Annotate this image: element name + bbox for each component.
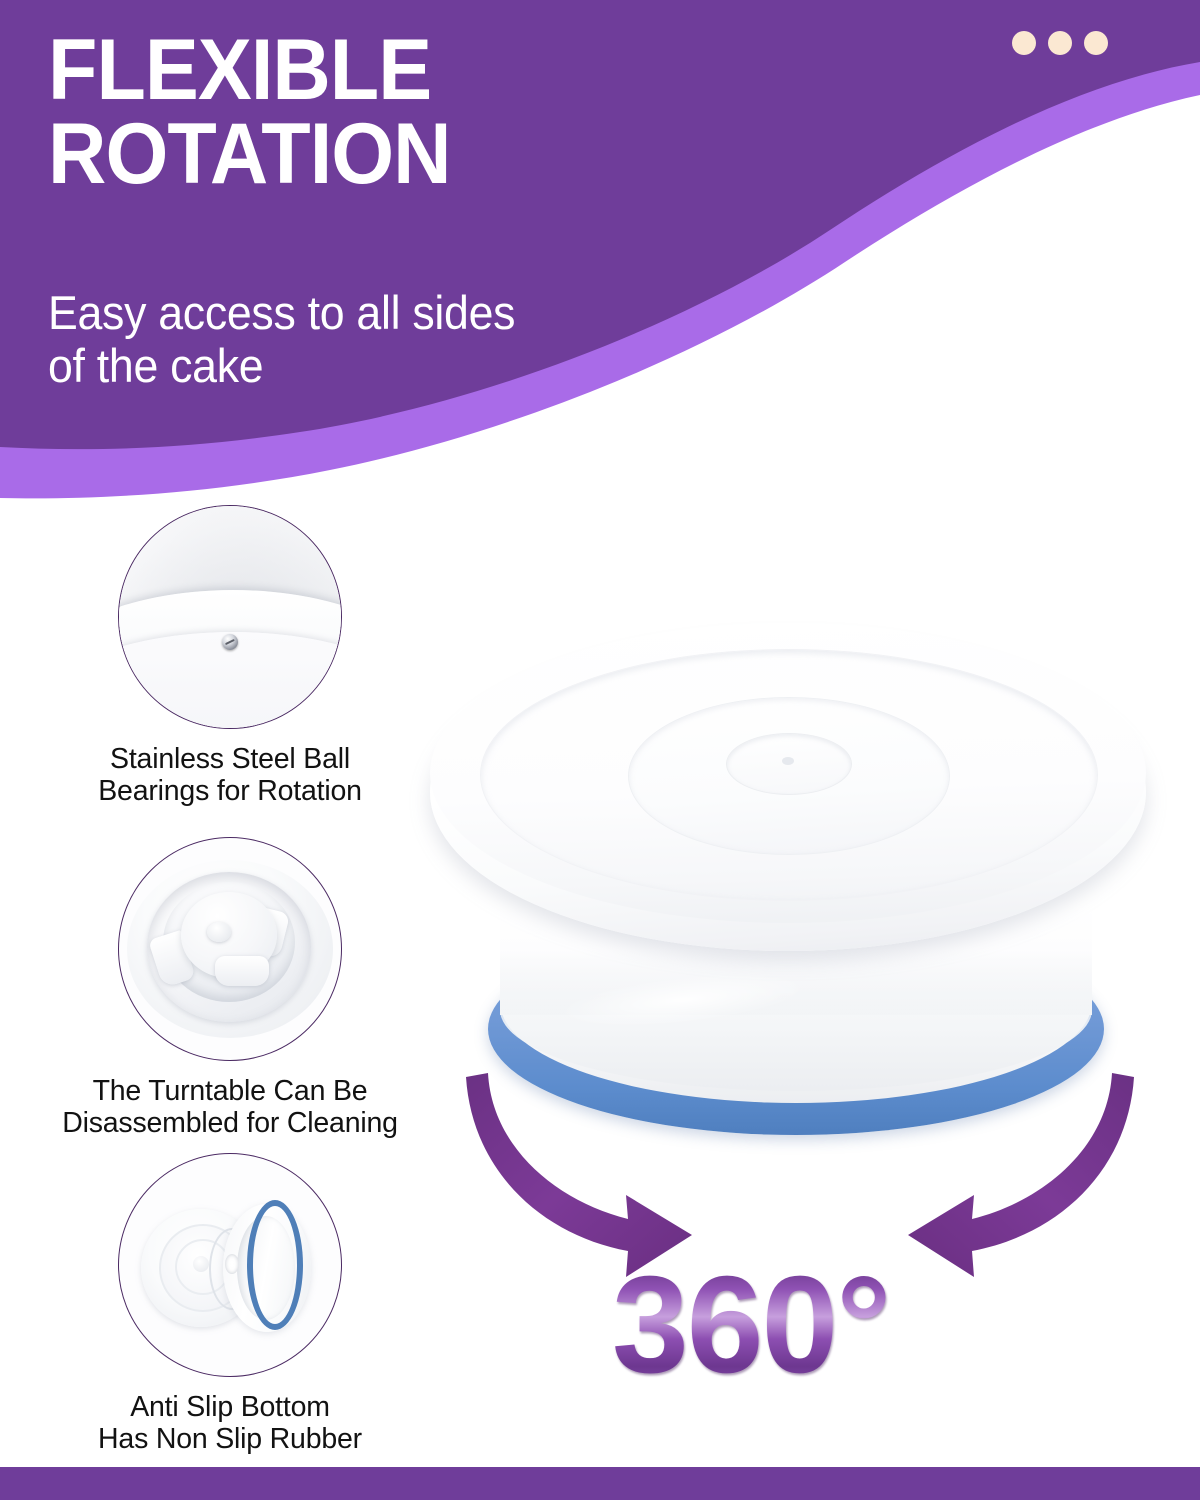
feature-label: Stainless Steel Ball Bearings for Rotati… [0, 743, 460, 808]
feature-item-ball-bearings: Stainless Steel Ball Bearings for Rotati… [0, 505, 460, 808]
page-title: FLEXIBLE ROTATION [48, 28, 706, 197]
dot-icon [1084, 31, 1108, 55]
dot-icon [1012, 31, 1036, 55]
rotation-degrees-label: 360° [612, 1256, 889, 1394]
feature-image-anti-slip [118, 1153, 342, 1377]
non-slip-rubber-ring-icon [247, 1200, 303, 1330]
feature-item-disassemble: The Turntable Can Be Disassembled for Cl… [0, 837, 460, 1140]
footer-bar [0, 1467, 1200, 1500]
decorative-dots-group [1012, 31, 1108, 55]
feature-label: Anti Slip Bottom Has Non Slip Rubber [0, 1391, 460, 1456]
feature-item-anti-slip: Anti Slip Bottom Has Non Slip Rubber [0, 1153, 460, 1456]
product-image-cake-turntable [418, 605, 1158, 1145]
page-subtitle: Easy access to all sides of the cake [48, 287, 675, 392]
feature-image-disassemble [118, 837, 342, 1061]
ball-bearing-screw-icon [222, 634, 238, 650]
product-feature-infographic: FLEXIBLE ROTATION Easy access to all sid… [0, 0, 1200, 1500]
feature-image-ball-bearings [118, 505, 342, 729]
dot-icon [1048, 31, 1072, 55]
feature-label: The Turntable Can Be Disassembled for Cl… [0, 1075, 460, 1140]
